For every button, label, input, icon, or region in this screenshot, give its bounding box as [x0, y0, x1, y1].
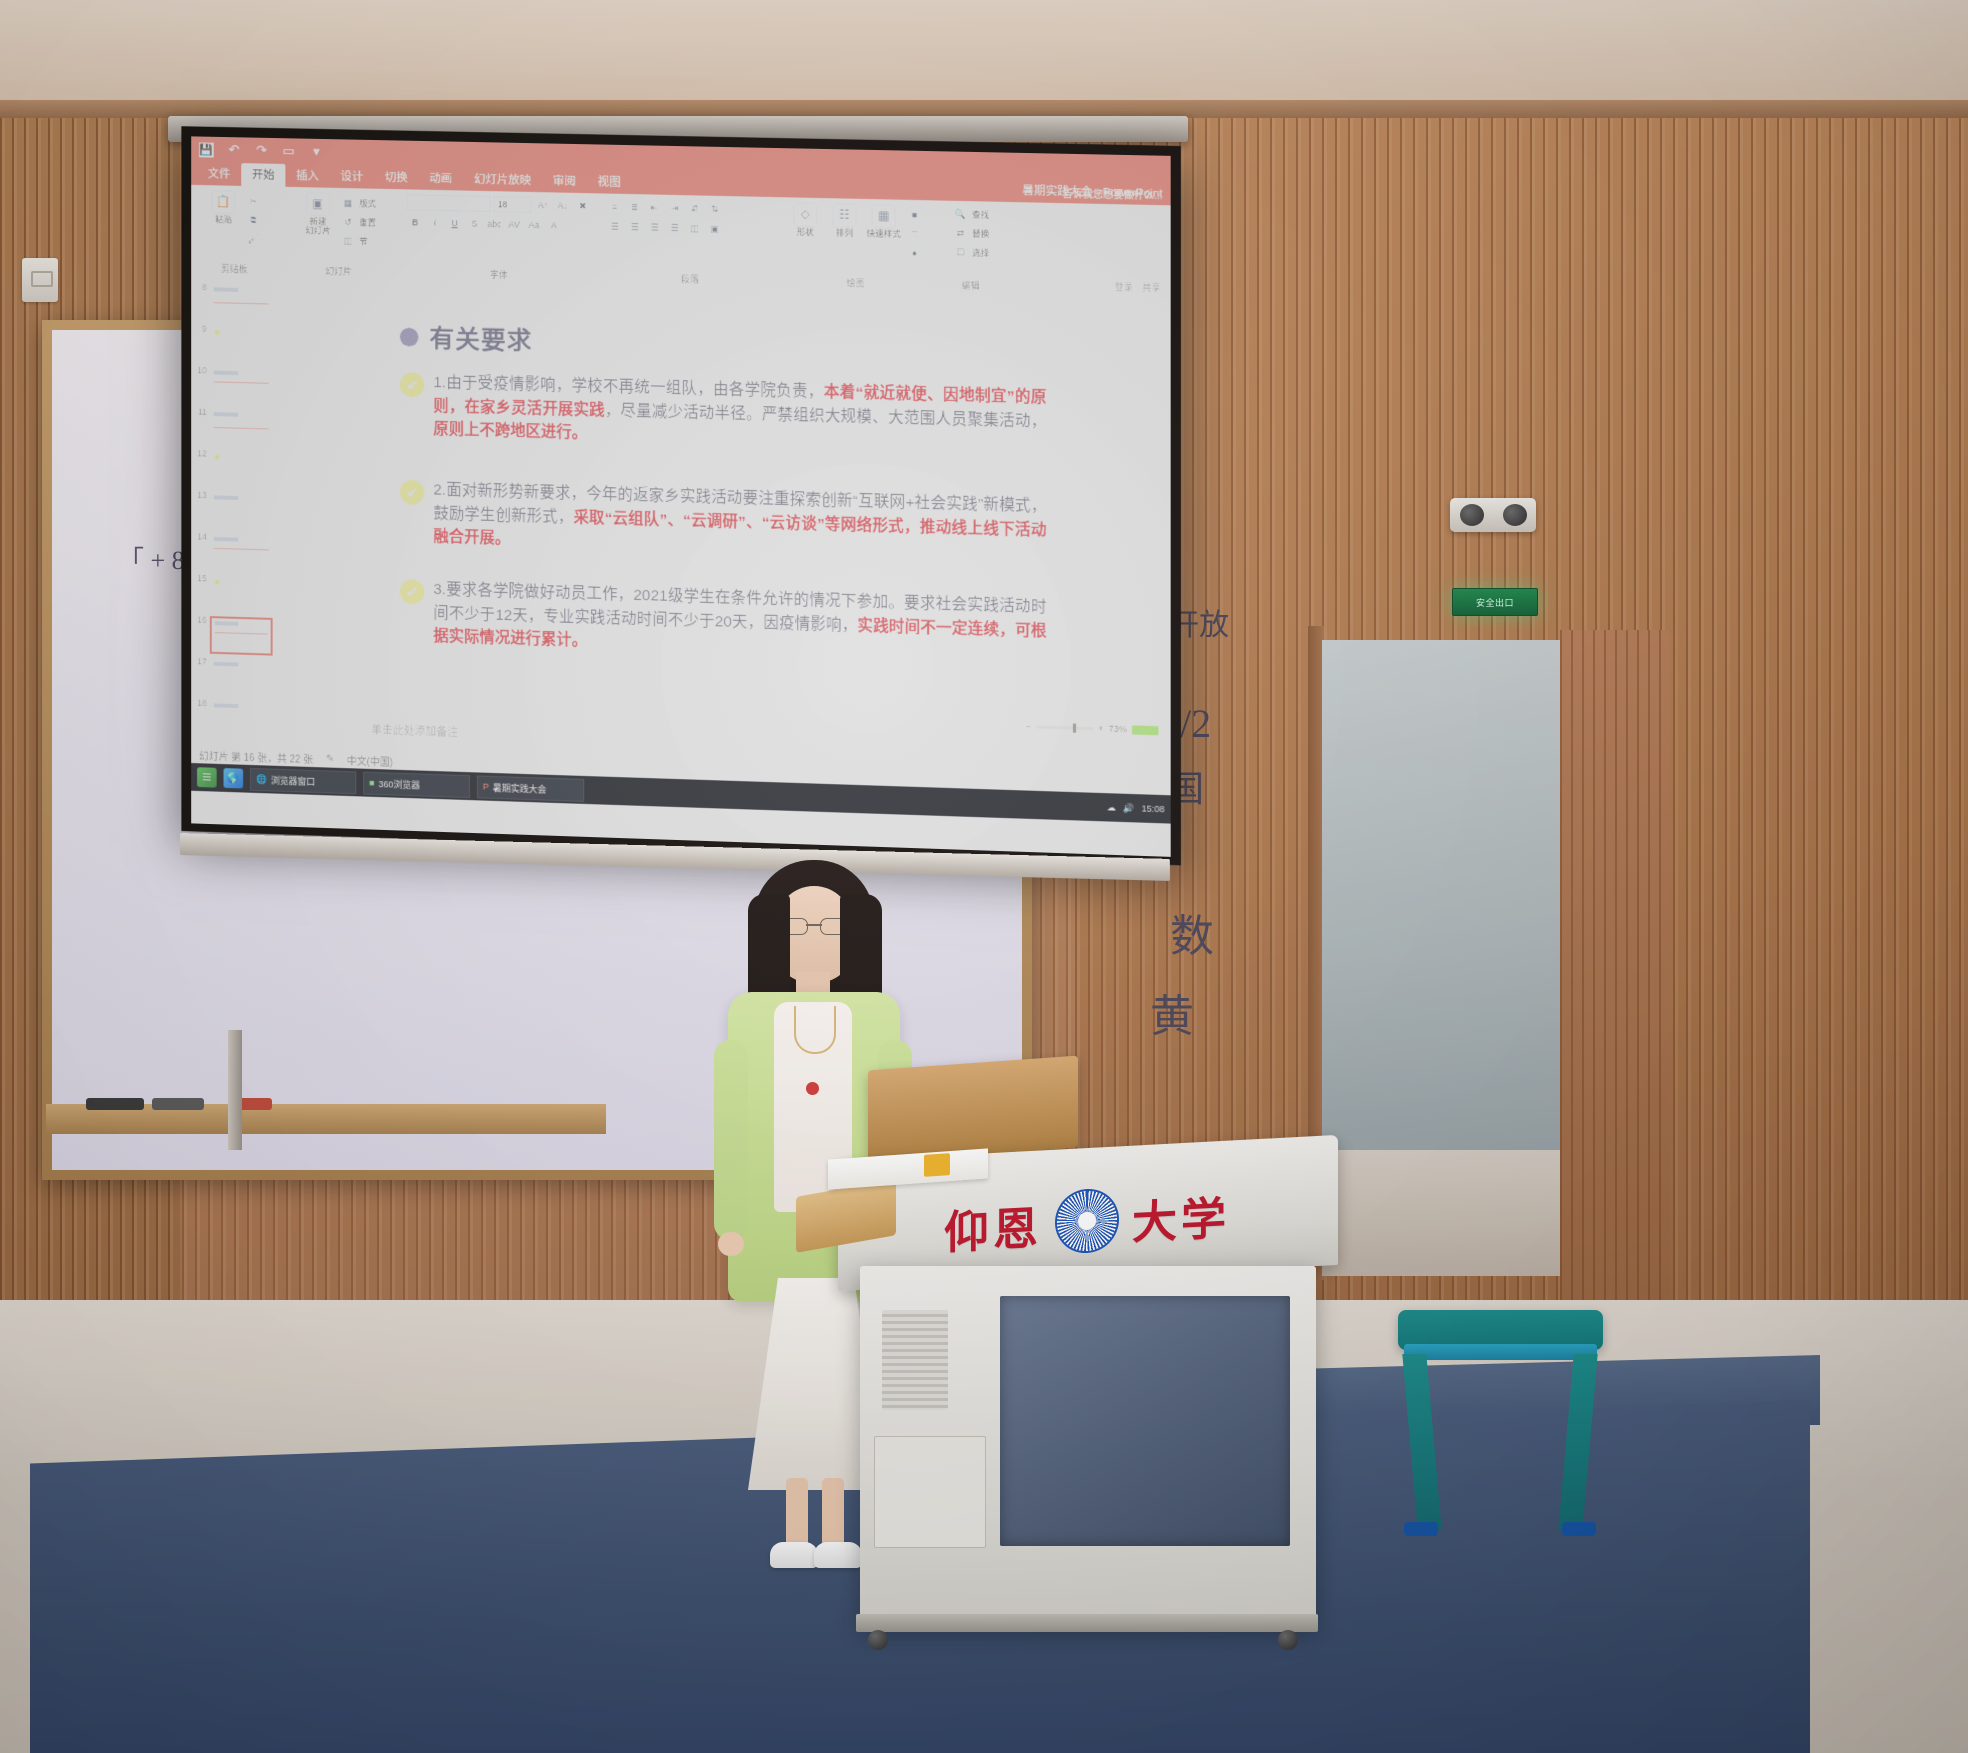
select-icon[interactable]: ☐ — [952, 244, 969, 260]
lectern-podium: 仰恩 大学 — [838, 1148, 1338, 1628]
list-item[interactable]: 15 — [191, 572, 275, 616]
left-leg — [786, 1478, 808, 1548]
thumbnail-preview[interactable] — [210, 408, 273, 445]
thumbnail-preview[interactable] — [210, 366, 273, 403]
tab-animations[interactable]: 动画 — [419, 167, 464, 191]
thumb-heading — [214, 662, 238, 667]
underline-icon[interactable]: U — [446, 215, 463, 231]
brand-text-right: 大学 — [1132, 1181, 1230, 1251]
shape-effects-icon[interactable]: ● — [906, 245, 923, 261]
start-presentation-icon[interactable]: ▭ — [281, 144, 296, 159]
thumbnail-preview[interactable] — [210, 491, 273, 528]
shapes-icon: ◇ — [793, 202, 817, 227]
quick-styles-icon: ▦ — [872, 204, 896, 229]
bullets-icon[interactable]: ≡ — [606, 199, 623, 215]
thumb-line — [214, 381, 269, 384]
spellcheck-icon[interactable]: ✎ — [326, 753, 334, 764]
podium-touch-screen[interactable] — [1000, 1296, 1290, 1546]
group-label-clipboard: 剪贴板 — [221, 262, 248, 277]
bullet1-seg4: 原则上不跨地区进行。 — [433, 421, 587, 442]
necklace — [794, 1006, 836, 1054]
zoom-in-icon[interactable]: + — [1098, 723, 1103, 733]
thumbnail-preview[interactable] — [210, 574, 273, 612]
font-name-input[interactable] — [407, 194, 491, 212]
marker-black[interactable] — [86, 1098, 144, 1110]
format-painter-icon[interactable]: 🖌 — [245, 231, 262, 247]
tab-home[interactable]: 开始 — [241, 163, 285, 187]
thumb-bullet-dot — [215, 455, 220, 460]
zoom-slider-knob[interactable] — [1073, 723, 1076, 732]
thumb-line — [215, 632, 268, 635]
select-label[interactable]: 选择 — [972, 246, 989, 258]
thumbnail-preview[interactable] — [210, 658, 273, 696]
tab-view[interactable]: 视图 — [587, 170, 632, 194]
list-item[interactable]: 9 — [191, 322, 275, 366]
brand-text-left: 仰恩 — [944, 1191, 1042, 1261]
shape-fill-icon[interactable]: ■ — [906, 207, 923, 223]
taskbar-edge-label: 浏览器窗口 — [271, 773, 315, 787]
stool-leg — [1402, 1354, 1441, 1530]
thumb-heading — [214, 371, 238, 376]
thumb-line — [214, 419, 269, 422]
emergency-bulb — [1503, 504, 1527, 526]
paste-icon: 📋 — [212, 190, 236, 214]
shapes-label: 形状 — [797, 228, 814, 238]
podium-caster — [868, 1630, 888, 1650]
slide-bullet-2-text: 2.面对新形势新要求，今年的返家乡实践活动要注重探索创新“互联网+社会实践”新模… — [433, 478, 1046, 566]
slide-editing-pane[interactable]: 有关要求 ✔ 1.由于受疫情影响，学校不再统一组队，由各学院负责，本着“就近就便… — [277, 279, 1171, 776]
thumbnail-number: 12 — [194, 449, 207, 458]
taskbar-window-powerpoint[interactable]: P 暑期实践大会 — [477, 775, 584, 801]
thumbnail-number: 15 — [194, 574, 207, 583]
thumb-line — [214, 302, 269, 305]
current-slide[interactable]: 有关要求 ✔ 1.由于受疫情影响，学校不再统一组队，由各学院负责，本着“就近就便… — [353, 291, 1091, 717]
line-spacing-icon[interactable]: ⇵ — [686, 200, 703, 216]
thumb-line — [214, 547, 269, 550]
thumb-line — [215, 628, 268, 631]
italic-icon[interactable]: I — [426, 215, 443, 231]
shapes-button[interactable]: ◇ 形状 — [788, 202, 822, 237]
slide-bullet-3-text: 3.要求各学院做好动员工作，2021级学生在条件允许的情况下参加。要求社会实践活… — [433, 578, 1046, 667]
section-icon[interactable]: ◫ — [340, 233, 357, 249]
left-shoe — [770, 1542, 818, 1568]
group-label-paragraph: 段落 — [681, 272, 699, 287]
corridor-floor — [1322, 1150, 1570, 1276]
emergency-light — [1450, 498, 1536, 532]
thumb-line — [214, 502, 269, 505]
numbering-icon[interactable]: ≣ — [626, 199, 643, 215]
paste-button[interactable]: 📋 粘贴 — [207, 190, 240, 225]
new-slide-button[interactable]: ▣ 新建 幻灯片 — [301, 192, 334, 236]
plastic-stool — [1398, 1310, 1603, 1540]
tab-slideshow[interactable]: 幻灯片放映 — [463, 168, 542, 193]
lecture-hall-scene: 安全出口 「 + 8.3大马 J.开放 1/2 国 数 黄 💾 ↶ ↷ ▭ ▾ … — [0, 0, 1968, 1753]
font-color-icon[interactable]: A — [545, 217, 562, 233]
whiteboard-note-shu: 数 — [1170, 900, 1214, 964]
left-arm — [714, 1040, 748, 1240]
ribbon-group-drawing: ◇ 形状 ☷ 排列 ▦ 快速样式 ■ □ ● — [782, 197, 930, 293]
title-bullet-icon — [400, 327, 419, 346]
edge-icon: 🌐 — [256, 774, 267, 785]
convert-smartart-icon[interactable]: ▣ — [706, 221, 723, 237]
app-icon: ■ — [369, 778, 374, 788]
emergency-bulb — [1460, 504, 1484, 526]
thumb-line — [214, 672, 269, 675]
thumbnail-number: 18 — [194, 699, 207, 708]
share-label[interactable]: 共享 — [1142, 280, 1160, 294]
increase-indent-icon[interactable]: ⇥ — [666, 200, 683, 216]
thumb-heading — [214, 287, 238, 292]
slide-bullet-1[interactable]: ✔ 1.由于受疫情影响，学校不再统一组队，由各学院负责，本着“就近就便、因地制宜… — [400, 370, 1047, 457]
tab-review[interactable]: 审阅 — [542, 169, 587, 193]
list-item[interactable]: 18 — [191, 697, 275, 741]
wooden-panel-behind — [868, 1056, 1078, 1163]
thumb-heading — [215, 621, 239, 626]
taskbar-window-edge[interactable]: 🌐 浏览器窗口 — [250, 767, 356, 793]
clear-formatting-icon[interactable]: ✖ — [574, 198, 591, 214]
browser-icon[interactable]: 🌎 — [224, 768, 244, 788]
tab-file[interactable]: 文件 — [197, 162, 241, 186]
zoom-slider[interactable] — [1036, 725, 1093, 730]
list-item[interactable]: 11 — [191, 406, 275, 450]
left-hand — [718, 1232, 744, 1256]
thumb-heading — [214, 703, 238, 708]
taskbar-ppt-label: 暑期实践大会 — [493, 780, 547, 795]
thumb-line — [214, 590, 269, 593]
list-item[interactable]: 17 — [191, 655, 275, 699]
slide-title-block[interactable]: 有关要求 — [400, 318, 533, 357]
more-commands-icon[interactable]: ▾ — [309, 144, 324, 159]
check-icon: ✔ — [400, 372, 425, 397]
list-item[interactable]: 14 — [191, 530, 275, 574]
signin-share-area[interactable]: 登录 共享 — [1115, 280, 1161, 294]
taskbar-tray[interactable]: ☁ 🔊 15:08 — [1107, 802, 1165, 815]
bold-icon[interactable]: B — [407, 214, 424, 230]
exit-sign-text: 安全出口 — [1476, 596, 1514, 609]
thumbnail-number: 9 — [194, 325, 207, 334]
thumb-heading — [214, 495, 238, 500]
thumbnail-number: 8 — [194, 283, 207, 292]
section-label[interactable]: 节 — [359, 235, 367, 247]
tray-network-icon[interactable]: ☁ — [1107, 802, 1116, 813]
podium-vent — [882, 1310, 948, 1410]
thumbnail-number: 17 — [194, 657, 207, 666]
bullet1-seg1: 1.由于受疫情影响，学校不再统一组队，由各学院负责， — [433, 374, 823, 401]
list-item[interactable]: 10 — [191, 364, 275, 408]
thumbnail-number: 16 — [194, 616, 207, 625]
reset-label[interactable]: 重置 — [359, 216, 376, 228]
slide-bullet-2[interactable]: ✔ 2.面对新形势新要求，今年的返家乡实践活动要注重探索创新“互联网+社会实践”… — [400, 478, 1047, 567]
zoom-level: 73% — [1109, 724, 1127, 735]
decrease-indent-icon[interactable]: ⇤ — [646, 199, 663, 215]
replace-icon[interactable]: ⇄ — [952, 225, 969, 241]
list-item[interactable]: 8 — [191, 281, 275, 325]
thumb-line — [214, 506, 269, 509]
sunburst-emblem-icon — [1057, 1189, 1117, 1252]
thumbnail-number: 10 — [194, 366, 207, 375]
group-label-drawing: 绘图 — [846, 276, 864, 291]
text-direction-icon[interactable]: ⇅ — [706, 201, 723, 217]
clock[interactable]: 15:08 — [1142, 803, 1165, 814]
wall-outlet — [22, 258, 58, 302]
thumb-line — [214, 298, 269, 301]
group-label-slides: 幻灯片 — [325, 264, 352, 280]
stool-band — [1404, 1344, 1597, 1360]
tab-transitions[interactable]: 切换 — [374, 166, 418, 190]
podium-caster — [1278, 1630, 1298, 1650]
stool-foot — [1404, 1522, 1438, 1536]
thumb-line — [214, 377, 269, 380]
list-item[interactable]: 13 — [191, 489, 275, 533]
replace-label[interactable]: 替换 — [972, 227, 989, 239]
paste-label: 粘贴 — [215, 215, 232, 225]
podium-body — [860, 1266, 1316, 1626]
tab-insert[interactable]: 插入 — [285, 164, 329, 188]
thumbnail-number: 13 — [194, 491, 207, 500]
wooden-door-panel — [1560, 630, 1670, 1310]
tray-volume-icon[interactable]: 🔊 — [1123, 802, 1134, 813]
page-title: 有关要求 — [429, 319, 532, 357]
projector-screen-pull-rod[interactable] — [228, 1030, 242, 1150]
thumb-heading — [214, 537, 238, 542]
podium-access-door[interactable] — [874, 1436, 986, 1548]
thumb-line — [214, 710, 269, 713]
arrange-button[interactable]: ☷ 排列 — [827, 203, 861, 238]
quick-styles-button[interactable]: ▦ 快速样式 — [867, 204, 901, 239]
thumbnail-number: 11 — [194, 408, 207, 417]
shadow-icon[interactable]: S — [466, 215, 483, 231]
thumb-line — [214, 341, 269, 344]
thumb-line — [214, 427, 269, 430]
fit-to-window-icon[interactable] — [1132, 725, 1158, 735]
align-center-icon[interactable]: ☰ — [626, 219, 643, 235]
shape-outline-icon[interactable]: □ — [906, 226, 923, 242]
thumb-line — [214, 423, 269, 426]
columns-icon[interactable]: ◫ — [686, 220, 703, 236]
stool-leg — [1558, 1354, 1597, 1530]
strikethrough-icon[interactable]: abc — [486, 216, 503, 232]
ribbon-group-clipboard: 📋 粘贴 ✂ ⧉ 🖌 剪贴板 — [191, 185, 278, 278]
thumbnail-preview-selected[interactable] — [210, 616, 273, 656]
thumb-line — [214, 543, 269, 546]
thumb-line — [214, 510, 269, 513]
whiteboard-note-huang: 黄 — [1150, 980, 1194, 1044]
align-right-icon[interactable]: ☰ — [646, 219, 663, 235]
powerpoint-icon: P — [483, 782, 489, 792]
thumb-heading — [214, 412, 238, 417]
tell-me-search[interactable]: 告诉我您想要做什么... — [1062, 185, 1162, 202]
list-item[interactable]: 12 — [191, 447, 275, 491]
slide-bullet-1-text: 1.由于受疫情影响，学校不再统一组队，由各学院负责，本着“就近就便、因地制宜”的… — [433, 371, 1046, 457]
quick-styles-label: 快速样式 — [867, 229, 901, 239]
thumb-line — [214, 668, 269, 671]
exit-sign: 安全出口 — [1452, 588, 1538, 616]
zoom-widget[interactable]: − + 73% — [1026, 721, 1159, 735]
tab-design[interactable]: 设计 — [330, 165, 374, 189]
find-icon[interactable]: 🔍 — [952, 206, 969, 222]
ribbon-group-slides: ▣ 新建 幻灯片 ▦版式 ↺重置 ◫节 幻灯片 — [279, 187, 400, 281]
new-slide-label: 新建 幻灯片 — [305, 217, 330, 236]
podium-base — [856, 1614, 1318, 1632]
ribbon-group-font: 18 A↑ A↓ ✖ B I U S abc AV Aa A — [400, 189, 599, 285]
thumb-line — [214, 294, 269, 297]
thumb-line — [214, 466, 269, 469]
thumb-bullet-dot — [215, 580, 220, 585]
sign-in-label[interactable]: 登录 — [1115, 280, 1133, 294]
ribbon-group-paragraph: ≡ ≣ ⇤ ⇥ ⇵ ⇅ ☰ ☰ ☰ ☰ ◫ ▣ — [599, 193, 782, 289]
group-label-editing: 编辑 — [961, 278, 979, 294]
reset-icon[interactable]: ↺ — [340, 214, 357, 230]
undo-icon[interactable]: ↶ — [226, 142, 241, 157]
thumbnail-number: 14 — [194, 532, 207, 541]
stool-foot — [1562, 1522, 1596, 1536]
taskbar-360-label: 360浏览器 — [378, 777, 420, 791]
cut-icon[interactable]: ✂ — [245, 193, 262, 209]
redo-icon[interactable]: ↷ — [254, 143, 269, 158]
slide-thumbnail-panel[interactable]: 8 9 10 — [191, 277, 276, 747]
slide-bullet-3[interactable]: ✔ 3.要求各学院做好动员工作，2021级学生在条件允许的情况下参加。要求社会实… — [400, 577, 1047, 667]
layout-label[interactable]: 版式 — [359, 197, 376, 209]
thumbnail-preview[interactable] — [210, 533, 273, 570]
save-icon[interactable]: 💾 — [199, 142, 214, 157]
layout-icon[interactable]: ▦ — [340, 195, 357, 211]
increase-font-size-icon[interactable]: A↑ — [534, 197, 551, 213]
find-label[interactable]: 查找 — [972, 208, 989, 220]
marker-grey[interactable] — [152, 1098, 204, 1110]
character-spacing-icon[interactable]: AV — [506, 216, 523, 232]
change-case-icon[interactable]: Aa — [526, 217, 543, 233]
bullet1-seg3: ，尽量减少活动半径。严禁组织大规模、大范围人员聚集活动， — [605, 402, 1047, 430]
ribbon-group-editing: 🔍查找 ⇄替换 ☐选择 编辑 — [930, 200, 1011, 294]
thumb-bullet-dot — [215, 330, 220, 335]
check-icon: ✔ — [400, 480, 425, 506]
thumb-line — [214, 385, 269, 388]
justify-icon[interactable]: ☰ — [666, 220, 683, 236]
check-icon: ✔ — [400, 579, 425, 605]
start-icon[interactable]: ☰ — [197, 767, 217, 787]
thumbnail-preview[interactable] — [210, 450, 273, 487]
thumbnail-preview[interactable] — [210, 699, 273, 737]
language-status[interactable]: 中文(中国) — [347, 752, 393, 768]
party-badge — [806, 1082, 819, 1095]
slide-count-status: 幻灯片 第 16 张，共 22 张 — [199, 747, 313, 766]
taskbar-window-360[interactable]: ■ 360浏览器 — [363, 771, 470, 797]
thumbnail-preview[interactable] — [210, 283, 273, 320]
decrease-font-size-icon[interactable]: A↓ — [554, 197, 571, 213]
align-left-icon[interactable]: ☰ — [606, 219, 623, 235]
arrange-label: 排列 — [836, 228, 853, 238]
arrange-icon: ☷ — [832, 203, 856, 228]
font-size-input[interactable]: 18 — [494, 196, 532, 213]
powerpoint-window[interactable]: 💾 ↶ ↷ ▭ ▾ – □ ✕ 文件 开始 插入 设计 切换 动画 幻灯片放映 … — [191, 136, 1171, 857]
zoom-out-icon[interactable]: − — [1026, 721, 1031, 731]
thumb-line — [215, 636, 268, 639]
thumbnail-preview[interactable] — [210, 325, 273, 362]
workspace: 8 9 10 — [191, 277, 1171, 776]
list-item[interactable]: 16 — [191, 614, 275, 658]
group-label-font: 字体 — [490, 268, 508, 283]
copy-icon[interactable]: ⧉ — [245, 212, 262, 228]
new-slide-icon: ▣ — [306, 192, 330, 216]
